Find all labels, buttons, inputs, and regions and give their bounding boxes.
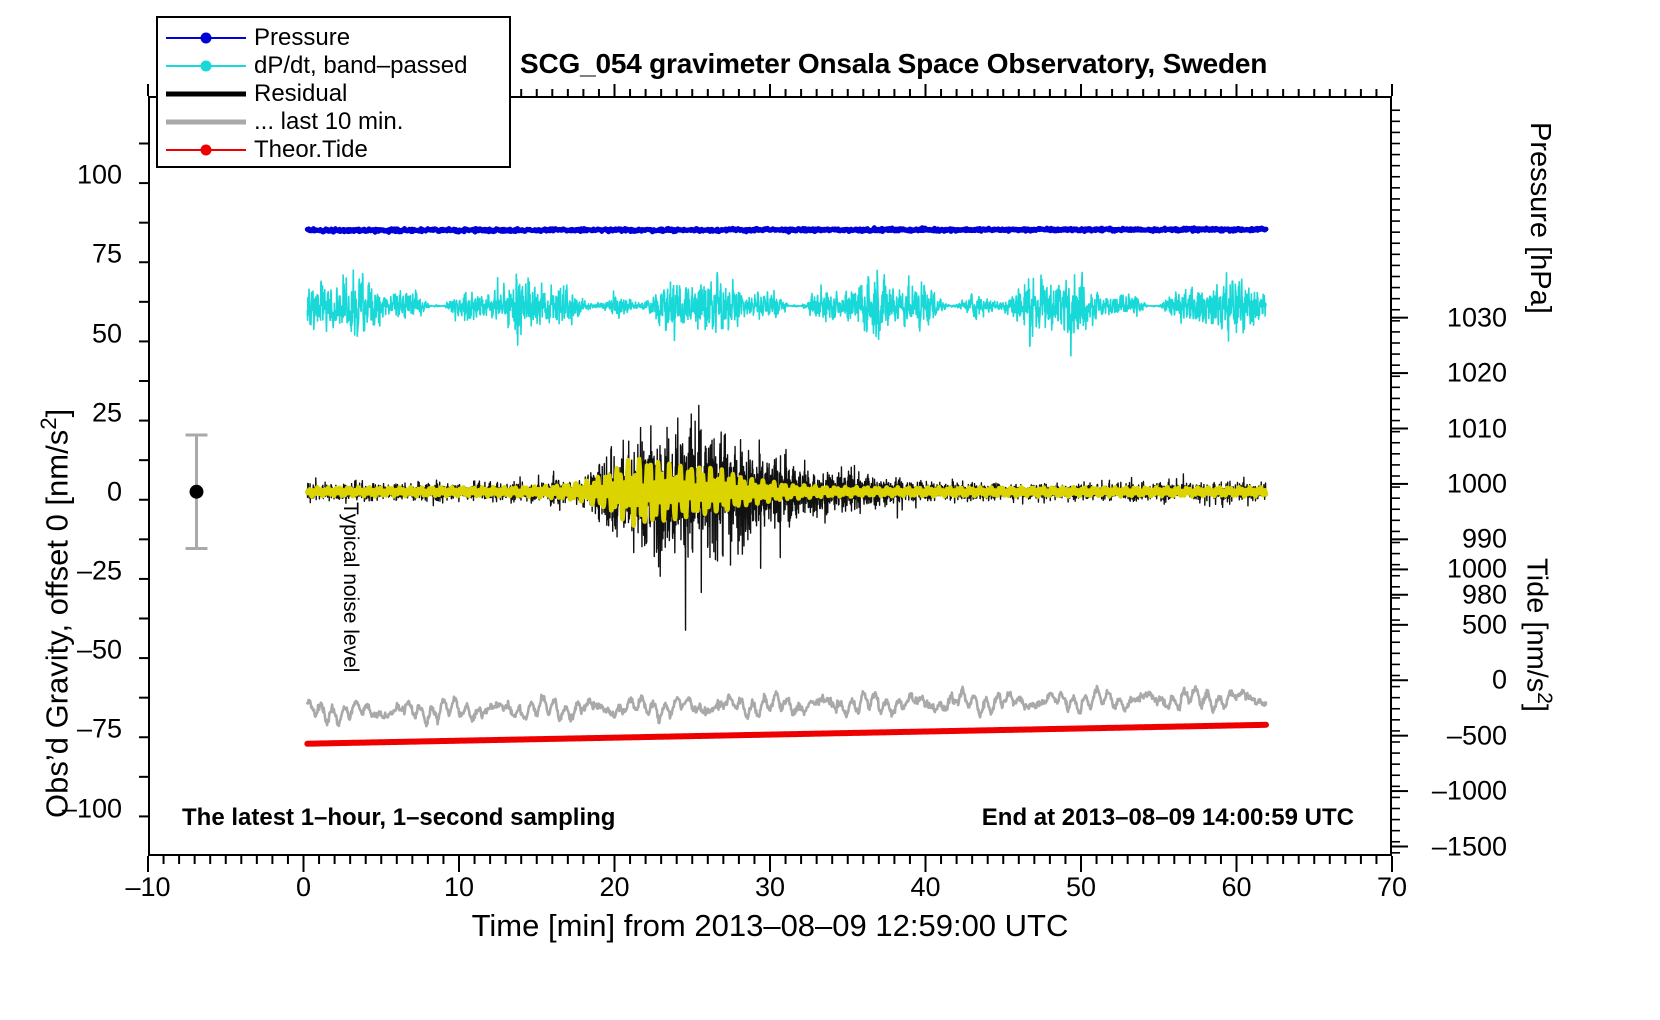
legend-swatch-icon [158,24,254,52]
plot-area: Typical noise level The latest 1–hour, 1… [148,96,1392,856]
sampling-note: The latest 1–hour, 1–second sampling [182,804,615,832]
legend-item[interactable]: Pressure [158,24,509,52]
noise-level-marker [190,485,204,499]
x-tick-label: 0 [296,872,311,903]
y-tick-label: –100 [0,793,122,824]
legend-swatch-icon [158,136,254,164]
y-axis-tide-title: Tide [nm/s2] [1519,558,1556,712]
legend-swatch-icon [158,80,254,108]
tide-tick-label: –1000 [1412,776,1507,807]
pressure-tick-label: 1020 [1412,358,1507,389]
legend-item-label: dP/dt, band–passed [254,52,468,80]
y-tick-label: –25 [0,556,122,587]
tide-tick-label: –1500 [1412,831,1507,862]
legend-item[interactable]: ... last 10 min. [158,108,509,136]
legend-swatch-icon [158,108,254,136]
legend-item[interactable]: dP/dt, band–passed [158,52,509,80]
pressure-tick-label: 1030 [1412,302,1507,333]
x-tick-label: 20 [599,872,629,903]
legend-item-label: Residual [254,80,347,108]
legend: PressuredP/dt, band–passedResidual... la… [156,16,511,168]
pressure-tick-label: 990 [1412,524,1507,555]
page-title: SCG_054 gravimeter Onsala Space Observat… [520,48,1400,80]
y-tick-label: 75 [0,239,122,270]
x-axis-title: Time [min] from 2013–08–09 12:59:00 UTC [148,908,1392,944]
y-tick-label: 50 [0,318,122,349]
y-tick-label: 25 [0,397,122,428]
legend-item[interactable]: Theor.Tide [158,136,509,164]
end-time-note: End at 2013–08–09 14:00:59 UTC [982,804,1354,832]
tide-tick-label: 0 [1412,665,1507,696]
y-tick-label: –75 [0,714,122,745]
x-tick-label: 40 [910,872,940,903]
y-tick-label: 0 [0,476,122,507]
y-axis-left-title: Obs’d Gravity, offset 0 [nm/s2] [36,409,75,818]
x-tick-label: 60 [1221,872,1251,903]
plot-svg [150,98,1390,854]
legend-swatch-icon [158,52,254,80]
legend-item-label: Pressure [254,24,350,52]
y-tick-label: –50 [0,635,122,666]
x-tick-label: 10 [444,872,474,903]
noise-level-label: Typical noise level [338,502,362,672]
pressure-tick-label: 1000 [1412,468,1507,499]
y-axis-pressure-title: Pressure [hPa] [1523,122,1556,314]
x-tick-label: 70 [1377,872,1407,903]
x-tick-label: 30 [755,872,785,903]
x-tick-label: 50 [1066,872,1096,903]
tide-tick-label: 500 [1412,609,1507,640]
x-tick-label: –10 [125,872,170,903]
chart-canvas: SCG_054 gravimeter Onsala Space Observat… [0,0,1660,1020]
tide-tick-label: –500 [1412,720,1507,751]
pressure-tick-label: 1010 [1412,413,1507,444]
legend-item-label: Theor.Tide [254,136,368,164]
y-tick-label: 100 [0,160,122,191]
legend-item-label: ... last 10 min. [254,108,403,136]
tide-tick-label: 1000 [1412,554,1507,585]
legend-item[interactable]: Residual [158,80,509,108]
